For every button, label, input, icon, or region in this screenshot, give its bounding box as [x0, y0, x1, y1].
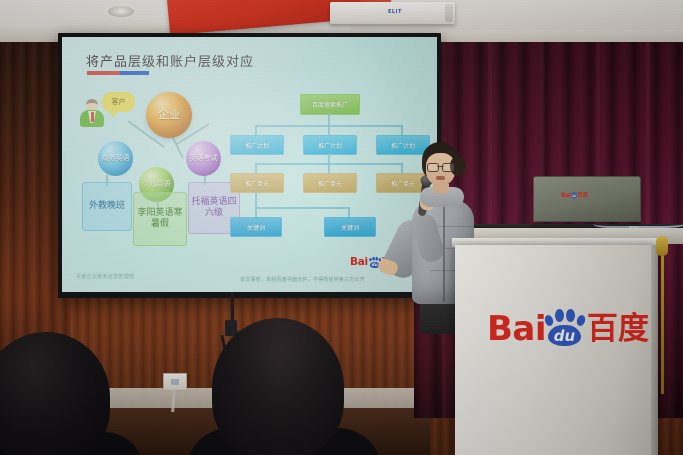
account-connector: [255, 191, 257, 207]
customer-bubble-label: 客户: [112, 97, 126, 107]
product-leaf-label: 李阳英语寒暑假: [134, 208, 186, 231]
account-connector: [328, 113, 330, 125]
product-leaf-box-kids: 李阳英语寒暑假: [133, 192, 187, 246]
title-rule-blue-segment: [120, 71, 149, 75]
logo-latin-text: Bai: [561, 191, 571, 198]
logo-paw-text: du: [372, 262, 378, 267]
logo-paw-text: du: [554, 327, 575, 345]
product-branch-label: 少儿英语: [143, 181, 171, 188]
laptop: Bai du 百度: [533, 176, 639, 224]
account-unit-box: 推广单元: [230, 173, 284, 193]
title-rule-red-segment: [87, 71, 120, 75]
product-leaf-label: 外教晚班: [89, 201, 125, 212]
product-branch-label: 商务英语: [102, 155, 130, 162]
customer-avatar-icon: [80, 99, 104, 127]
product-branch-node-business: 商务英语: [98, 141, 133, 176]
logo-latin-text: Bai: [487, 309, 546, 349]
product-branch-label: 英语考试: [190, 155, 218, 162]
account-keyword-box: 关键词: [324, 217, 376, 237]
account-connector: [255, 163, 257, 173]
account-connector: [328, 125, 330, 135]
customer-speech-bubble: 客户: [102, 92, 135, 112]
mic-stand-pole: [661, 244, 664, 394]
account-connector: [255, 125, 257, 135]
account-unit-box: 推广单元: [303, 173, 357, 193]
account-plan-label: 推广计划: [318, 141, 342, 150]
presentation-photo-scene: ELIT 将产品层级和账户层级对应 客户 企业 商务英语: [0, 0, 683, 455]
mic-stand-head: [656, 236, 668, 256]
account-connector: [328, 153, 330, 163]
account-unit-label: 推广单元: [245, 179, 269, 188]
projected-slide: 将产品层级和账户层级对应 客户 企业 商务英语 少儿英语: [62, 37, 437, 292]
product-root-label: 企业: [158, 109, 180, 121]
logo-cn-text: 百度: [578, 191, 588, 198]
logo-cn-text: 百度: [587, 303, 649, 348]
baidu-paw-icon: du: [571, 192, 578, 198]
account-plan-label: 推广计划: [245, 141, 269, 150]
audience-member-head: [212, 318, 344, 455]
account-connector: [328, 163, 330, 173]
logo-paw-text: du: [572, 195, 576, 198]
product-leaf-box-business: 外教晚班: [82, 182, 132, 231]
account-connector: [348, 207, 350, 217]
account-root-box: 百度搜索推广: [300, 94, 360, 115]
product-root-node: 企业: [146, 92, 192, 138]
podium-baidu-logo: Bai du 百度: [487, 303, 649, 349]
ceiling-downlight-icon: [108, 6, 134, 17]
eyeglasses-icon: [427, 163, 454, 170]
account-keyword-label: 关键词: [341, 223, 359, 232]
baidu-paw-icon: du: [544, 309, 586, 347]
account-plan-box: 推广计划: [230, 135, 284, 155]
projector-screen-housing: ELIT: [330, 2, 455, 24]
slide-title-underline: [87, 71, 149, 75]
laptop-cable: [593, 218, 639, 228]
account-connector: [255, 207, 257, 217]
screen-housing-brand-label: ELIT: [388, 9, 402, 15]
logo-latin-text: Bai: [350, 256, 368, 268]
screen-housing-end-cap: [445, 4, 453, 22]
account-connector: [401, 125, 403, 135]
account-plan-box: 推广计划: [303, 135, 357, 155]
product-leaf-label: 托福英语四六级: [189, 197, 239, 220]
account-unit-label: 推广单元: [318, 179, 342, 188]
laptop-lid: [533, 176, 641, 222]
product-branch-node-exam: 英语考试: [186, 141, 221, 176]
slide-title: 将产品层级和账户层级对应: [86, 51, 254, 70]
account-keyword-label: 关键词: [247, 223, 265, 232]
laptop-baidu-sticker: Bai du 百度: [561, 191, 588, 198]
podium: Bai du 百度: [455, 245, 658, 455]
account-keyword-box: 关键词: [230, 217, 282, 237]
slide-footer-department: 百度企业服务运营管理部: [76, 273, 134, 280]
account-root-label: 百度搜索推广: [312, 100, 348, 109]
account-connector: [255, 207, 349, 209]
slide-footer-confidentiality-notice: 本文保密，未经百度书面允许，不得向任何第三方公开: [240, 276, 365, 283]
